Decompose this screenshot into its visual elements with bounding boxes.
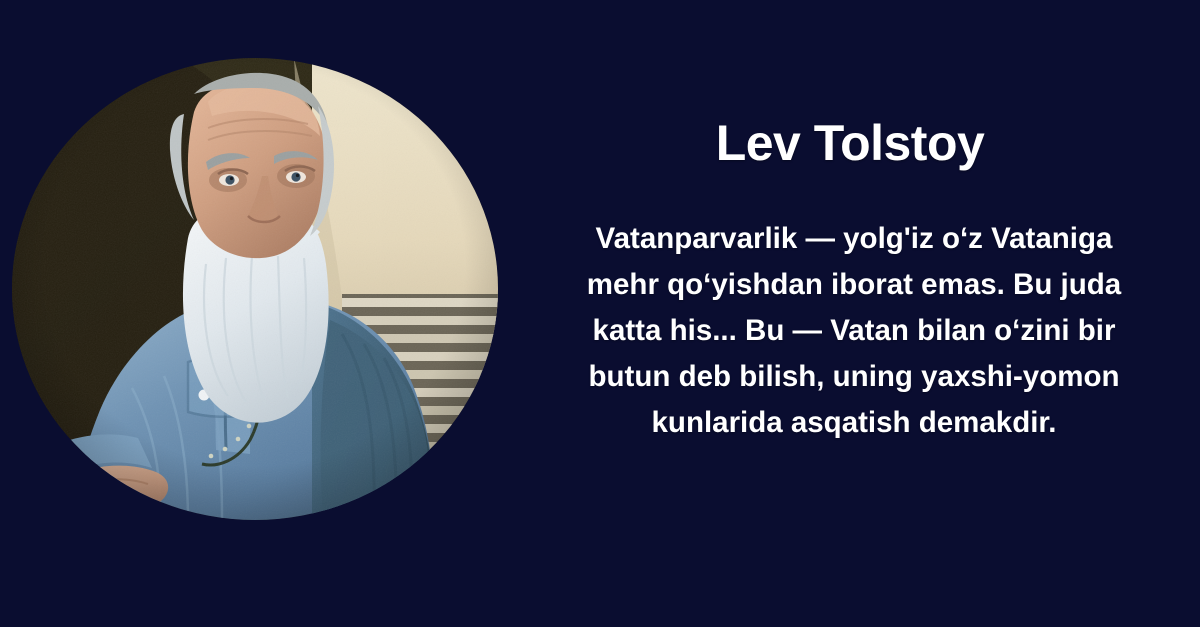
quote-text: Vatanparvarlik — yolg'iz o‘z Vataniga me… [520, 216, 1188, 446]
quote-line: butun deb bilish, uning yaxshi-yomon [520, 354, 1188, 400]
quote-line: kunlarida asqatish demakdir. [520, 400, 1188, 446]
quote-card: Lev Tolstoy Vatanparvarlik — yolg'iz o‘z… [0, 0, 1200, 627]
quote-line: mehr qo‘yishdan iborat emas. Bu juda [520, 262, 1188, 308]
quote-line: katta his... Bu — Vatan bilan o‘zini bir [520, 308, 1188, 354]
text-column: Lev Tolstoy Vatanparvarlik — yolg'iz o‘z… [520, 0, 1200, 627]
portrait-container [12, 58, 498, 520]
portrait-illustration [12, 58, 498, 520]
quote-line: Vatanparvarlik — yolg'iz o‘z Vataniga [520, 216, 1188, 262]
author-name: Lev Tolstoy [520, 117, 1180, 170]
author-portrait-avatar [12, 58, 498, 520]
